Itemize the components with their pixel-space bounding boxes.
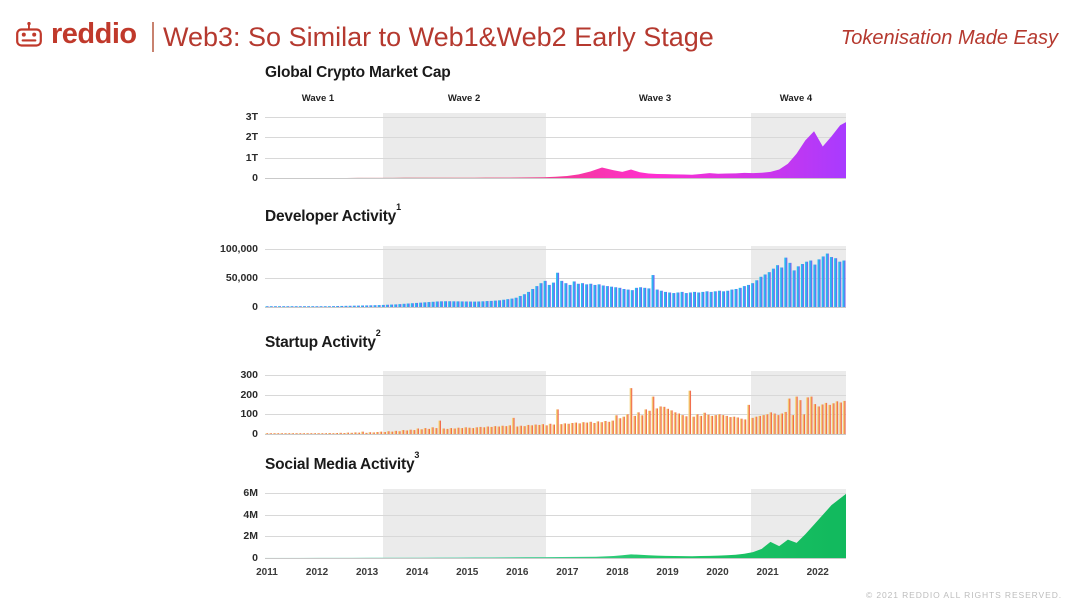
bar (452, 301, 455, 307)
bar (773, 414, 776, 434)
bar (438, 421, 441, 434)
bar (674, 412, 677, 434)
bar (830, 257, 833, 307)
bar (299, 306, 302, 307)
bar (768, 272, 771, 307)
bar (382, 305, 385, 307)
bar (380, 432, 383, 434)
bar (656, 290, 659, 307)
chart-panel-2: Developer Activity1050,000100,000 (0, 0, 1080, 608)
x-axis-tick-label: 2020 (706, 567, 728, 578)
bar (703, 413, 706, 434)
bar (801, 264, 804, 307)
wave-label-4: Wave 4 (780, 93, 812, 104)
x-axis-tick-label: 2011 (256, 567, 278, 578)
bar (280, 433, 283, 434)
bar (403, 304, 406, 307)
y-axis-tick-label: 6M (243, 487, 258, 499)
y-axis-tick-label: 1T (246, 152, 258, 164)
bar (361, 432, 364, 434)
bar (784, 412, 787, 434)
gridline (265, 117, 846, 118)
bar (739, 288, 742, 307)
bar (714, 415, 717, 434)
bar (710, 292, 713, 307)
bar (407, 304, 410, 307)
bar (593, 423, 596, 434)
bar (332, 306, 335, 307)
bar (373, 305, 376, 307)
bar (286, 306, 289, 307)
gridline (265, 375, 846, 376)
bar (320, 306, 323, 307)
x-axis-tick-label: 2012 (306, 567, 328, 578)
axis-baseline (265, 434, 846, 435)
bar (751, 283, 754, 307)
bar (453, 428, 456, 434)
bar (328, 306, 331, 307)
bar (431, 427, 434, 434)
bar (764, 274, 767, 307)
bar (780, 268, 783, 308)
chart-panel-1: Global Crypto Market CapWave 1Wave 2Wave… (0, 0, 1080, 608)
bar (512, 418, 515, 434)
bar (567, 424, 570, 434)
bar (813, 404, 816, 434)
bar (295, 306, 298, 307)
bar (664, 292, 667, 307)
bar (290, 306, 293, 307)
bar (311, 306, 314, 307)
bar (317, 433, 320, 434)
bar (295, 433, 298, 434)
plot-area: 01T2T3T (265, 113, 846, 178)
gridline (265, 536, 846, 537)
bar (652, 397, 655, 434)
chart-series (265, 371, 846, 434)
bar (810, 397, 813, 434)
bar (585, 284, 588, 307)
bar (622, 417, 625, 434)
wave-shaded-band-1 (383, 246, 546, 307)
chart-title: Global Crypto Market Cap (265, 64, 451, 82)
y-axis-tick-label: 0 (252, 172, 258, 184)
bar (839, 403, 842, 435)
bar (563, 423, 566, 434)
bar (523, 426, 526, 434)
bar (677, 414, 680, 434)
bar (444, 301, 447, 307)
bar (697, 292, 700, 307)
bar (354, 432, 357, 434)
bar (755, 280, 758, 307)
y-axis-tick-label: 100 (240, 408, 258, 420)
bar (269, 433, 272, 434)
bar (743, 286, 746, 307)
bar (372, 432, 375, 434)
bar (681, 292, 684, 307)
bar (541, 424, 544, 434)
bar (699, 416, 702, 434)
bar (560, 424, 563, 434)
bar (696, 414, 699, 434)
bar (357, 433, 360, 434)
bar (578, 423, 581, 434)
bar (498, 300, 501, 307)
bar (843, 401, 846, 434)
chart-panel-4: Social Media Activity302M4M6M (0, 0, 1080, 608)
bar (560, 281, 563, 307)
bar (423, 302, 426, 307)
bar (299, 433, 302, 434)
bar (534, 425, 537, 434)
bar (427, 302, 430, 307)
plot-area: 050,000100,000 (265, 246, 846, 307)
bar (456, 301, 459, 307)
bar (776, 265, 779, 307)
bar (315, 306, 318, 307)
bar (585, 423, 588, 434)
bar (581, 283, 584, 307)
bar (471, 428, 474, 434)
gridline (265, 158, 846, 159)
bar (409, 430, 412, 434)
bar (544, 281, 547, 307)
bar (627, 290, 630, 307)
area-series (265, 494, 846, 558)
bar (571, 423, 574, 434)
chart-series (265, 246, 846, 307)
x-axis-tick-label: 2019 (656, 567, 678, 578)
bar (644, 409, 647, 434)
bar (464, 427, 467, 434)
bar (416, 428, 419, 434)
bar (539, 283, 542, 307)
bar (516, 427, 519, 434)
bar (784, 258, 787, 307)
bar (490, 301, 493, 307)
bar (593, 285, 596, 307)
bar (482, 427, 485, 434)
bar (284, 433, 287, 434)
bar (574, 423, 577, 434)
bar (722, 291, 725, 307)
bar (598, 284, 601, 307)
bar (519, 426, 522, 434)
bar (633, 416, 636, 434)
x-axis-tick-label: 2015 (456, 567, 478, 578)
bar (465, 301, 468, 307)
bar (413, 430, 416, 434)
bar (824, 403, 827, 434)
bar (469, 302, 472, 307)
bar (335, 433, 338, 434)
bar (685, 416, 688, 434)
bar (766, 414, 769, 434)
bar (394, 431, 397, 434)
bar (394, 304, 397, 307)
bar (842, 261, 845, 307)
bar (730, 290, 733, 307)
bar (556, 409, 559, 434)
bar (365, 305, 368, 307)
bar (655, 408, 658, 434)
bar (685, 293, 688, 307)
axis-baseline (265, 307, 846, 308)
bar (747, 285, 750, 307)
bar (531, 289, 534, 307)
bar (306, 433, 309, 434)
x-axis-tick-label: 2016 (506, 567, 528, 578)
bar (556, 273, 559, 307)
bar (346, 433, 349, 434)
bar (505, 426, 508, 434)
bar (303, 306, 306, 307)
x-axis-tick-label: 2018 (606, 567, 628, 578)
bar (602, 286, 605, 308)
y-axis-tick-label: 0 (252, 552, 258, 564)
bar (600, 422, 603, 434)
bar (494, 426, 497, 434)
bar (549, 424, 552, 434)
bar (523, 294, 526, 307)
bar (415, 303, 418, 307)
bar (442, 428, 445, 434)
bar (740, 419, 743, 434)
y-axis-tick-label: 200 (240, 389, 258, 401)
bar (545, 425, 548, 434)
bar (747, 405, 750, 434)
bar (799, 400, 802, 434)
bar (835, 401, 838, 434)
bar (457, 428, 460, 434)
y-axis-tick-label: 3T (246, 111, 258, 123)
bar (479, 427, 482, 434)
bar (350, 433, 353, 434)
y-axis-tick-label: 4M (243, 509, 258, 521)
bar (818, 259, 821, 307)
bar (639, 287, 642, 307)
bar (424, 428, 427, 434)
bar (486, 301, 489, 307)
x-axis-tick-label: 2022 (807, 567, 829, 578)
bar (619, 418, 622, 434)
x-axis-tick-label: 2021 (756, 567, 778, 578)
y-axis-tick-label: 300 (240, 369, 258, 381)
bar (688, 391, 691, 434)
bar (834, 258, 837, 307)
gridline (265, 395, 846, 396)
bar (282, 306, 285, 307)
wave-shaded-band-2 (751, 371, 846, 434)
bar (548, 285, 551, 307)
bar (826, 254, 829, 307)
chart-title: Developer Activity1 (265, 207, 401, 226)
bar (349, 306, 352, 307)
bar (460, 428, 463, 434)
area-series (265, 122, 846, 178)
bar (501, 426, 504, 434)
bar (402, 430, 405, 434)
bar (307, 306, 310, 307)
bar (615, 415, 618, 434)
bar (475, 427, 478, 434)
bar (817, 406, 820, 434)
bar (357, 306, 360, 307)
bar (793, 270, 796, 307)
bar (277, 433, 280, 434)
bar (721, 415, 724, 434)
bar (427, 429, 430, 434)
bar (376, 432, 379, 434)
bar (755, 417, 758, 434)
bar (660, 291, 663, 307)
bar (718, 291, 721, 307)
bar (726, 291, 729, 307)
bar (733, 417, 736, 434)
bar (353, 306, 356, 307)
bar (386, 305, 389, 307)
bar (788, 263, 791, 307)
bar (725, 416, 728, 434)
bar (626, 414, 629, 434)
bar (481, 301, 484, 307)
bar (666, 409, 669, 434)
wave-shaded-band-1 (383, 371, 546, 434)
bar (729, 417, 732, 434)
bar (411, 303, 414, 307)
bar (343, 433, 346, 434)
bar (630, 388, 633, 434)
bar (449, 428, 452, 434)
bar (310, 433, 313, 434)
bar (631, 290, 634, 307)
wave-shaded-band-1 (383, 113, 546, 178)
bar (777, 415, 780, 434)
bar (676, 292, 679, 307)
bar (387, 431, 390, 434)
bar (714, 291, 717, 307)
bar (383, 432, 386, 434)
bar (806, 397, 809, 434)
y-axis-tick-label: 2T (246, 131, 258, 143)
gridline (265, 515, 846, 516)
wave-label-1: Wave 1 (302, 93, 334, 104)
bar (610, 287, 613, 307)
bar (637, 412, 640, 434)
bar (368, 432, 371, 434)
axis-baseline (265, 178, 846, 179)
chart-title-footnote: 1 (396, 202, 401, 212)
bar (530, 425, 533, 434)
bar (635, 288, 638, 307)
bar (838, 262, 841, 307)
bar (744, 419, 747, 434)
bar (278, 306, 281, 307)
bar (759, 277, 762, 307)
bar (648, 411, 651, 434)
wave-shaded-band-2 (751, 246, 846, 307)
bar (432, 302, 435, 307)
bar (332, 433, 335, 434)
bar (324, 306, 327, 307)
bar (769, 412, 772, 434)
bar (398, 304, 401, 307)
bar (552, 425, 555, 434)
gridline (265, 414, 846, 415)
bar (681, 415, 684, 434)
gridline (265, 278, 846, 279)
chart-stack: Global Crypto Market CapWave 1Wave 2Wave… (0, 0, 1080, 608)
y-axis-tick-label: 50,000 (226, 272, 258, 284)
bar (527, 425, 530, 434)
bar (604, 421, 607, 434)
bar (477, 301, 480, 307)
bar (440, 301, 443, 307)
bar (832, 403, 835, 434)
bar (448, 301, 451, 307)
bar (693, 292, 696, 307)
bar (515, 298, 518, 307)
y-axis-tick-label: 0 (252, 301, 258, 313)
bar (611, 421, 614, 434)
bar (435, 428, 438, 434)
bar (596, 421, 599, 434)
plot-area: 0100200300 (265, 371, 846, 434)
chart-series (265, 113, 846, 178)
bar (641, 415, 644, 434)
bar (589, 422, 592, 434)
y-axis-tick-label: 100,000 (220, 243, 258, 255)
bar (701, 292, 704, 307)
bar (274, 306, 277, 307)
bar (340, 306, 343, 307)
bar (751, 418, 754, 434)
bar (718, 414, 721, 434)
bar (378, 305, 381, 307)
y-axis-tick-label: 2M (243, 530, 258, 542)
bar (552, 283, 555, 307)
bar (535, 286, 538, 307)
bar (527, 292, 530, 307)
bar (589, 284, 592, 307)
bar (538, 425, 541, 434)
bar (758, 416, 761, 434)
bar (494, 301, 497, 307)
bar (663, 407, 666, 434)
bar (436, 301, 439, 307)
wave-shaded-band-2 (751, 489, 846, 558)
bar (647, 288, 650, 307)
bar (270, 306, 273, 307)
bar (569, 285, 572, 307)
bar (795, 397, 798, 434)
bar (606, 286, 609, 307)
bar (670, 410, 673, 434)
chart-title-footnote: 3 (414, 450, 419, 460)
bar (564, 283, 567, 307)
bar (508, 425, 511, 434)
bar (692, 417, 695, 434)
chart-panel-3: Startup Activity20100200300 (0, 0, 1080, 608)
bar (809, 261, 812, 307)
wave-label-2: Wave 2 (448, 93, 480, 104)
bar (643, 288, 646, 307)
x-axis-tick-label: 2014 (406, 567, 428, 578)
bar (302, 433, 305, 434)
x-axis: 2011201220132014201520162017201820192020… (0, 567, 1080, 583)
bar (772, 269, 775, 307)
